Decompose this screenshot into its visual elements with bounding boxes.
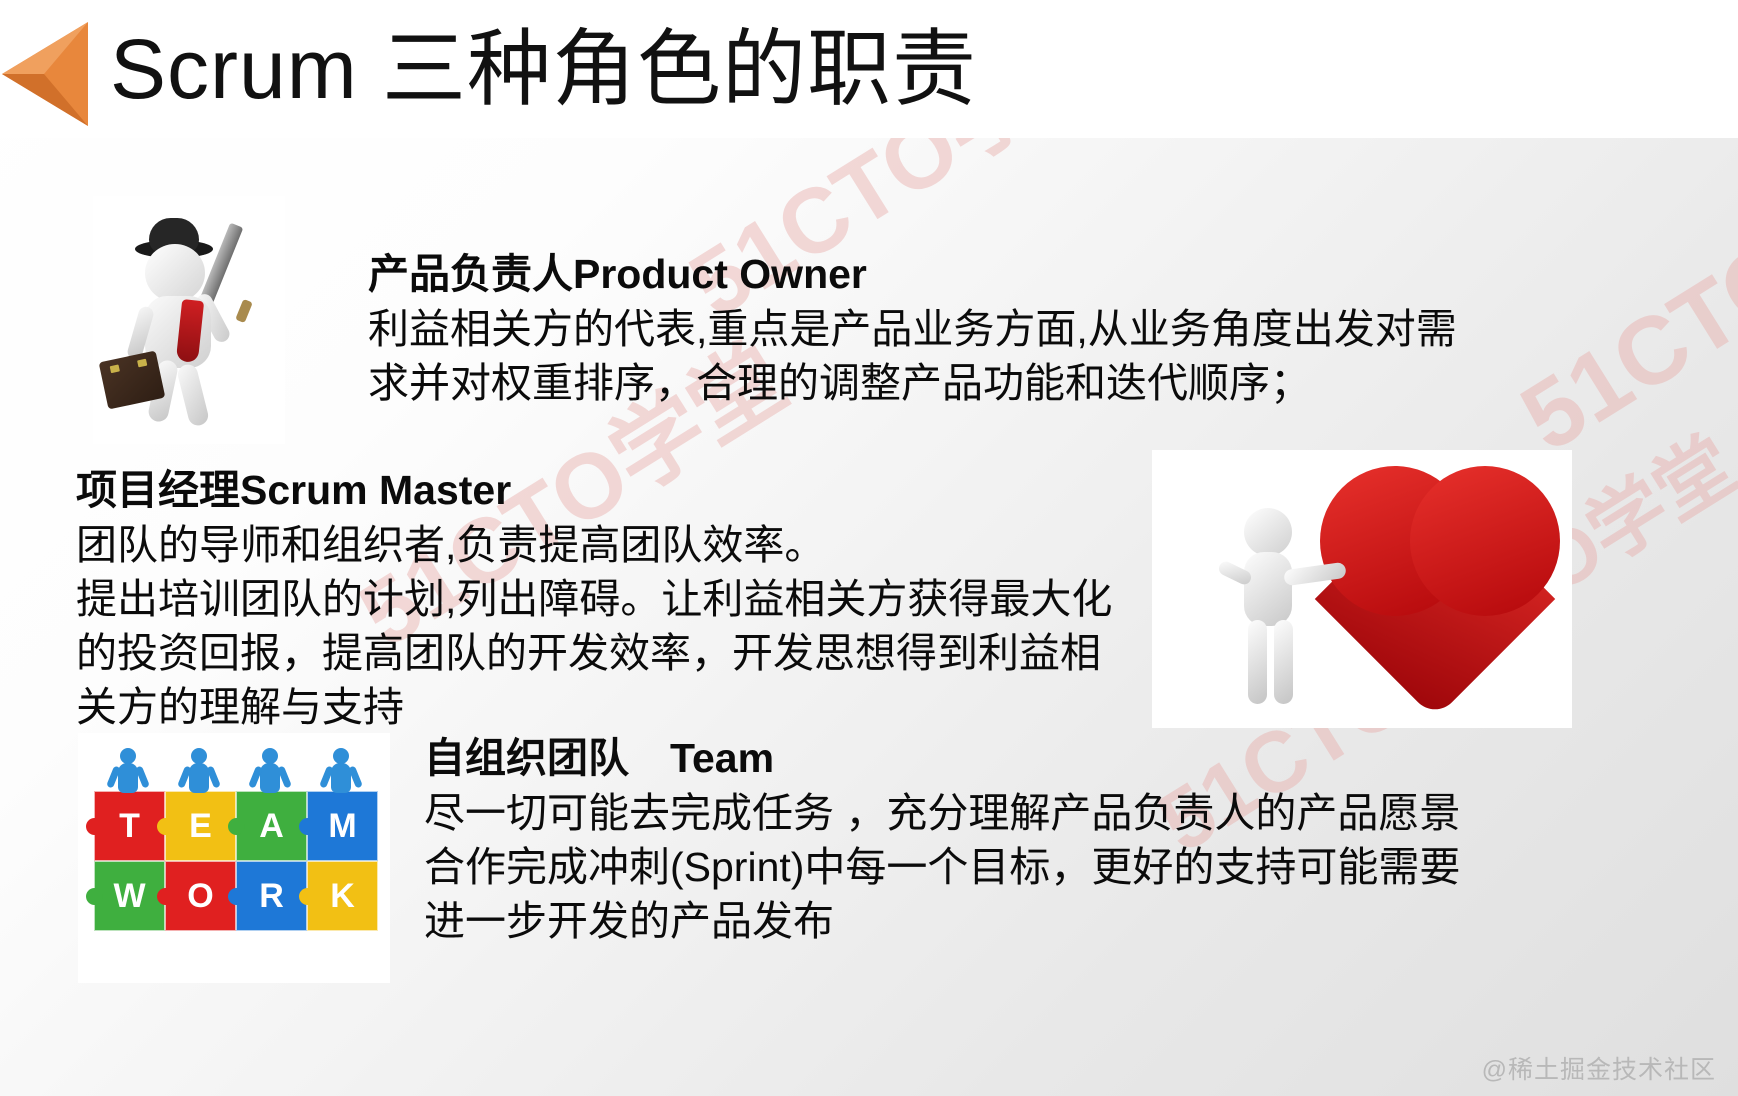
- team-text-block: 自组织团队 Team 尽一切可能去完成任务 ，充分理解产品负责人的产品愿景 合作…: [424, 730, 1460, 948]
- puzzle-letter: A: [259, 807, 284, 846]
- scrum-master-line: 的投资回报，提高团队的开发效率，开发思想得到利益相: [76, 626, 1112, 680]
- puzzle-piece: O: [165, 861, 236, 931]
- product-owner-text-block: 产品负责人Product Owner 利益相关方的代表,重点是产品业务方面,从业…: [368, 246, 1457, 410]
- puzzle-letter: M: [328, 807, 356, 846]
- businessman-figure-icon: [93, 196, 285, 444]
- team-image: T E A M W O R K: [78, 733, 390, 983]
- product-owner-line: 利益相关方的代表,重点是产品业务方面,从业务角度出发对需: [368, 302, 1457, 356]
- team-line: 合作完成冲刺(Sprint)中每一个目标，更好的支持可能需要: [424, 840, 1460, 894]
- scrum-master-text-block: 项目经理Scrum Master 团队的导师和组织者,负责提高团队效率。 提出培…: [76, 462, 1112, 734]
- puzzle-piece: E: [165, 791, 236, 861]
- puzzle-letter: W: [113, 877, 145, 916]
- scrum-master-line: 提出培训团队的计划,列出障碍。让利益相关方获得最大化: [76, 572, 1112, 626]
- team-line: 进一步开发的产品发布: [424, 894, 1460, 948]
- presentation-slide: 51CTO学堂 51CTO学堂 51CTO学堂 51CTO学堂 51CTO学堂 …: [0, 0, 1738, 1096]
- teamwork-puzzle-icon: T E A M W O R K: [94, 791, 378, 931]
- scrum-master-line: 关方的理解与支持: [76, 680, 1112, 734]
- puzzle-letter: O: [187, 877, 213, 916]
- product-owner-image: [93, 196, 285, 444]
- puzzle-piece: K: [307, 861, 378, 931]
- puzzle-letter: E: [189, 807, 212, 846]
- white-figure-icon: [1216, 508, 1326, 704]
- scrum-master-heading: 项目经理Scrum Master: [76, 462, 1112, 518]
- puzzle-piece: T: [94, 791, 165, 861]
- scrum-master-line: 团队的导师和组织者,负责提高团队效率。: [76, 518, 1112, 572]
- puzzle-piece: A: [236, 791, 307, 861]
- puzzle-letter: T: [119, 807, 140, 846]
- watermark-51cto: 51CTO学堂: [1490, 95, 1738, 478]
- puzzle-piece: M: [307, 791, 378, 861]
- red-heart-icon: [1320, 466, 1570, 700]
- scrum-master-image: [1152, 450, 1572, 728]
- corner-watermark: @稀土掘金技术社区: [1482, 1050, 1716, 1086]
- team-heading: 自组织团队 Team: [424, 730, 1460, 786]
- title-band: Scrum 三种角色的职责: [0, 0, 1738, 138]
- product-owner-line: 求并对权重排序，合理的调整产品功能和迭代顺序；: [368, 356, 1457, 410]
- page-title: Scrum 三种角色的职责: [110, 14, 977, 124]
- team-line: 尽一切可能去完成任务 ，充分理解产品负责人的产品愿景: [424, 786, 1460, 840]
- puzzle-piece: W: [94, 861, 165, 931]
- puzzle-piece: R: [236, 861, 307, 931]
- puzzle-letter: R: [259, 877, 284, 916]
- orange-triangle-icon: [0, 18, 92, 130]
- product-owner-heading: 产品负责人Product Owner: [368, 246, 1457, 302]
- puzzle-letter: K: [330, 877, 355, 916]
